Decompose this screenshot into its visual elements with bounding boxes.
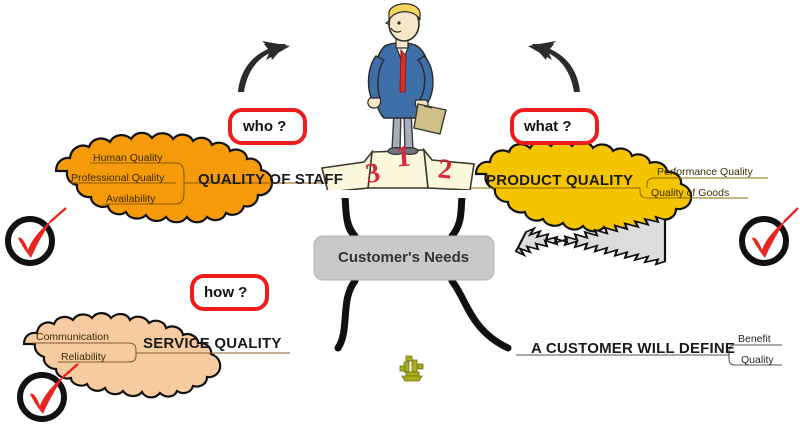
connector-curve-bl [338,281,355,348]
subitem-communication[interactable]: Communication [36,331,109,343]
subitem-availability[interactable]: Availability [106,193,155,205]
subitem-benefit[interactable]: Benefit [738,333,771,345]
businessman-figure [368,4,446,155]
subitem-performance-quality[interactable]: Performance Quality [657,166,753,178]
diagram-svg [0,0,800,432]
subitem-human-quality[interactable]: Human Quality [93,152,162,164]
small-decorative-figure-icon [400,356,423,381]
curved-arrow-right-icon [528,41,580,92]
branch-label-product-quality[interactable]: PRODUCT QUALITY [486,172,633,189]
question-label-how[interactable]: how ? [204,284,247,301]
check-badge-service-quality [20,364,78,419]
curved-arrow-left-icon [238,41,290,92]
subitem-professional-quality[interactable]: Professional Quality [71,172,164,184]
podium-number-first: 1 [395,140,412,175]
subitem-reliability[interactable]: Reliability [61,351,106,363]
branch-label-a-customer-will-define[interactable]: A CUSTOMER WILL DEFINE [531,340,735,357]
center-node-label: Customer's Needs [338,249,469,266]
question-label-who[interactable]: who ? [243,118,286,135]
subitem-quality[interactable]: Quality [741,354,774,366]
branch-label-quality-of-staff[interactable]: QUALITY OF STAFF [198,171,343,188]
mindmap-canvas: Customer's Needs QUALITY OF STAFF Human … [0,0,800,432]
subitem-quality-of-goods[interactable]: Quality of Goods [651,187,729,199]
check-badge-product-quality [742,208,798,263]
connector-curve-br [452,281,508,348]
check-badge-quality-of-staff [8,208,66,263]
question-label-what[interactable]: what ? [524,118,572,135]
branch-label-service-quality[interactable]: SERVICE QUALITY [143,335,282,352]
